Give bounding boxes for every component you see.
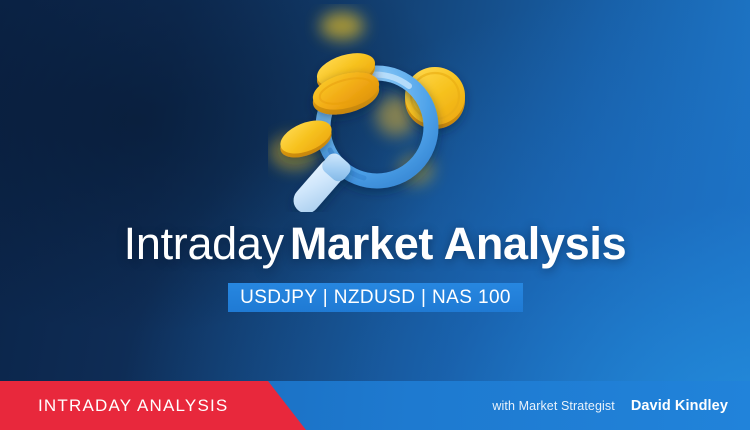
- presenter-name: David Kindley: [631, 398, 728, 414]
- magnifying-glass-with-coins-illustration: [268, 4, 498, 212]
- footer-category-label: INTRADAY ANALYSIS: [38, 381, 228, 430]
- presenter-credit: with Market Strategist David Kindley: [492, 381, 728, 430]
- footer-bar: INTRADAY ANALYSIS with Market Strategist…: [0, 381, 750, 430]
- presenter-role-label: with Market Strategist: [492, 399, 614, 413]
- page-title: IntradayMarket Analysis: [0, 218, 750, 270]
- instrument-pairs-badge: USDJPY | NZDUSD | NAS 100: [228, 283, 523, 312]
- instrument-pairs-text: USDJPY | NZDUSD | NAS 100: [240, 287, 511, 309]
- promo-banner: IntradayMarket Analysis USDJPY | NZDUSD …: [0, 0, 750, 430]
- coin-blurred-top: [320, 12, 364, 40]
- title-light-part: Intraday: [124, 218, 284, 269]
- title-bold-part: Market Analysis: [290, 218, 627, 269]
